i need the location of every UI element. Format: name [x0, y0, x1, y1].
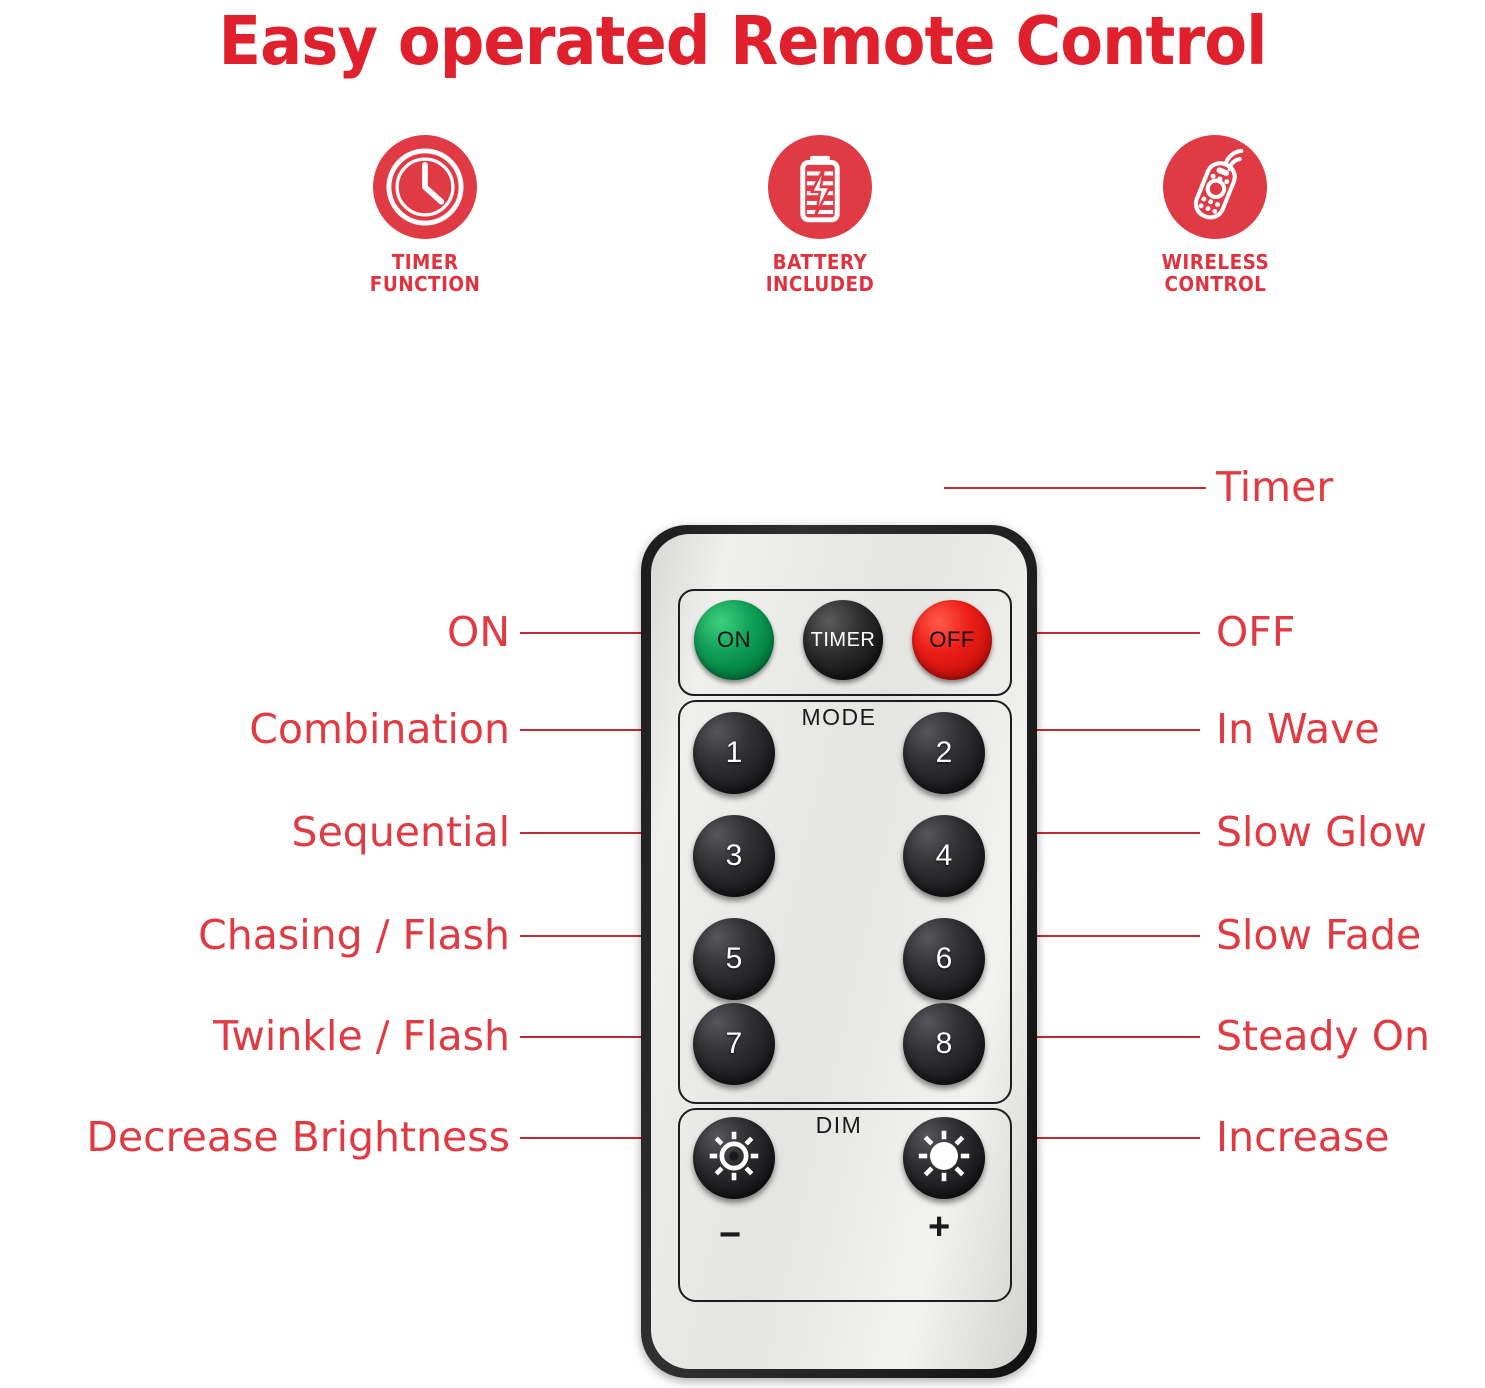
mode-button-3-label: 3	[726, 839, 743, 873]
feature-wireless-caption: WIRELESS CONTROL	[1161, 251, 1269, 296]
brightness-high-icon	[916, 1128, 972, 1189]
remote-faceplate: ON TIMER OFF MODE 1 2 3 4 5 6 7 8 DIM	[651, 534, 1027, 1369]
callout-in-wave: In Wave	[1216, 705, 1380, 753]
feature-wireless: WIRELESS CONTROL	[1090, 135, 1340, 296]
timer-button-label: TIMER	[811, 629, 876, 652]
dim-plus-symbol: +	[928, 1206, 950, 1249]
mode-button-1[interactable]: 1	[693, 712, 775, 794]
dim-down-button[interactable]	[693, 1117, 775, 1199]
callout-twinkle-flash: Twinkle / Flash	[213, 1012, 510, 1060]
callout-decrease-brightness: Decrease Brightness	[86, 1113, 510, 1161]
page-title: Easy operated Remote Control	[52, 2, 1433, 80]
clock-icon	[373, 135, 477, 239]
callout-on: ON	[447, 608, 510, 656]
remote-control-device: ON TIMER OFF MODE 1 2 3 4 5 6 7 8 DIM	[641, 525, 1037, 1378]
brightness-low-icon	[706, 1128, 762, 1189]
feature-timer-caption: TIMER FUNCTION	[370, 251, 481, 296]
mode-button-8[interactable]: 8	[903, 1003, 985, 1085]
mode-button-2-label: 2	[936, 736, 953, 770]
battery-icon	[768, 135, 872, 239]
mode-button-6-label: 6	[936, 942, 953, 976]
mode-button-6[interactable]: 6	[903, 918, 985, 1000]
callout-slow-glow: Slow Glow	[1216, 808, 1427, 856]
remote-signal-icon	[1163, 135, 1267, 239]
mode-button-4-label: 4	[936, 839, 953, 873]
mode-button-5-label: 5	[726, 942, 743, 976]
on-button-label: ON	[717, 627, 751, 653]
mode-button-3[interactable]: 3	[693, 815, 775, 897]
off-button[interactable]: OFF	[912, 600, 992, 680]
mode-button-7[interactable]: 7	[693, 1003, 775, 1085]
feature-timer: TIMER FUNCTION	[300, 135, 550, 296]
callout-steady-on: Steady On	[1216, 1012, 1430, 1060]
on-button[interactable]: ON	[694, 600, 774, 680]
feature-battery-caption: BATTERY INCLUDED	[766, 251, 875, 296]
mode-button-7-label: 7	[726, 1027, 743, 1061]
dim-up-button[interactable]	[903, 1117, 985, 1199]
mode-button-1-label: 1	[726, 736, 743, 770]
callout-slow-fade: Slow Fade	[1216, 911, 1421, 959]
callout-sequential: Sequential	[292, 808, 510, 856]
callout-increase: Increase	[1216, 1113, 1390, 1161]
feature-battery: BATTERY INCLUDED	[695, 135, 945, 296]
callout-off: OFF	[1216, 608, 1295, 656]
dim-minus-symbol: −	[719, 1214, 741, 1257]
feature-badges: TIMER FUNCTION BATTERY INCLUDED	[300, 135, 1340, 325]
mode-button-8-label: 8	[936, 1027, 953, 1061]
callout-chasing-flash: Chasing / Flash	[198, 911, 510, 959]
callout-timer: Timer	[1216, 463, 1333, 511]
timer-button[interactable]: TIMER	[803, 600, 883, 680]
leader-timer	[944, 487, 1206, 489]
mode-button-5[interactable]: 5	[693, 918, 775, 1000]
off-button-label: OFF	[929, 627, 975, 653]
mode-button-2[interactable]: 2	[903, 712, 985, 794]
mode-button-4[interactable]: 4	[903, 815, 985, 897]
callout-combination: Combination	[249, 705, 510, 753]
